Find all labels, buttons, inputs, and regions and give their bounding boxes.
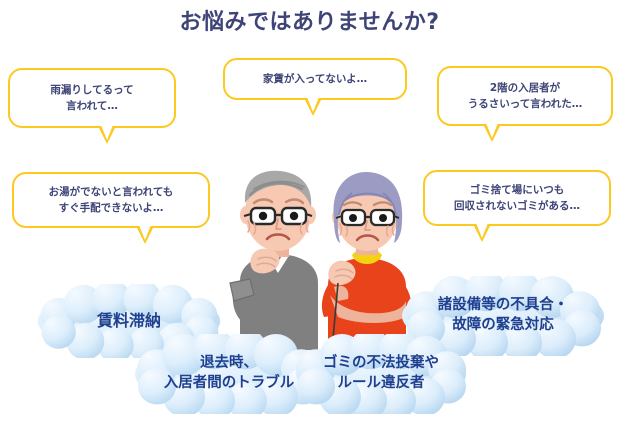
speech-bubble-noisy-tenant-text: 2階の入居者が うるさいって言われた… [468, 80, 582, 113]
problem-blob-illegal-dumping-label: ゴミの不法投棄や ルール違反者 [323, 354, 439, 393]
blob-line: 入居者間のトラブル [164, 375, 295, 391]
bubble-tail-fill [486, 123, 498, 138]
speech-bubble-uncollected-trash: ゴミ捨て場にいつも 回収されないゴミがある… [423, 170, 611, 226]
speech-bubble-no-hot-water: お湯がでないと言われても すぐ手配できないよ… [12, 172, 210, 228]
bubble-tail-fill [476, 223, 488, 238]
bubble-line: すぐ手配できないよ… [59, 202, 164, 214]
blob-line: 故障の緊急対応 [452, 317, 554, 333]
problem-blob-moveout-trouble-label: 退去時、 入居者間のトラブル [164, 354, 295, 393]
speech-bubble-unpaid-rent: 家賃が入ってないよ… [223, 58, 407, 100]
bubble-line: 家賃が入ってないよ… [263, 73, 367, 85]
bubble-line: 2階の入居者が [490, 82, 560, 94]
page-title: お悩みではありませんか? [0, 4, 619, 36]
bubble-line: 言われて… [66, 100, 118, 112]
couple-svg [210, 155, 425, 350]
bubble-line: 回収されないゴミがある… [454, 200, 580, 212]
bubble-line: ゴミ捨て場にいつも [470, 184, 565, 196]
elderly-man-figure [230, 171, 318, 350]
blob-line: ゴミの不法投棄や [323, 355, 439, 371]
bubble-tail-fill [307, 97, 319, 112]
blob-line: 賃料滞納 [97, 311, 161, 330]
bubble-line: お湯がでないと言われても [49, 186, 174, 198]
bubble-line: うるさいって言われた… [468, 98, 582, 110]
bubble-tail-fill [101, 125, 113, 140]
blob-line: ルール違反者 [338, 375, 425, 391]
speech-bubble-no-hot-water-text: お湯がでないと言われても すぐ手配できないよ… [49, 184, 174, 217]
blob-line: 諸設備等の不具合・ [438, 297, 569, 313]
speech-bubble-rain-leak-text: 雨漏りしてるって 言われて… [50, 82, 133, 115]
blob-line: 退去時、 [200, 355, 258, 371]
bubble-tail-fill [139, 225, 151, 240]
worried-elderly-couple-illustration [210, 155, 425, 350]
problem-blob-rent-arrears-label: 賃料滞納 [97, 310, 161, 332]
speech-bubble-noisy-tenant: 2階の入居者が うるさいって言われた… [437, 66, 613, 126]
speech-bubble-rain-leak: 雨漏りしてるって 言われて… [8, 68, 176, 128]
bubble-line: 雨漏りしてるって [50, 84, 133, 96]
speech-bubble-uncollected-trash-text: ゴミ捨て場にいつも 回収されないゴミがある… [454, 182, 580, 215]
speech-bubble-unpaid-rent-text: 家賃が入ってないよ… [263, 71, 367, 87]
problem-blob-equipment-failure-label: 諸設備等の不具合・ 故障の緊急対応 [438, 296, 569, 335]
problem-blob-illegal-dumping: ゴミの不法投棄や ルール違反者 [292, 334, 470, 414]
